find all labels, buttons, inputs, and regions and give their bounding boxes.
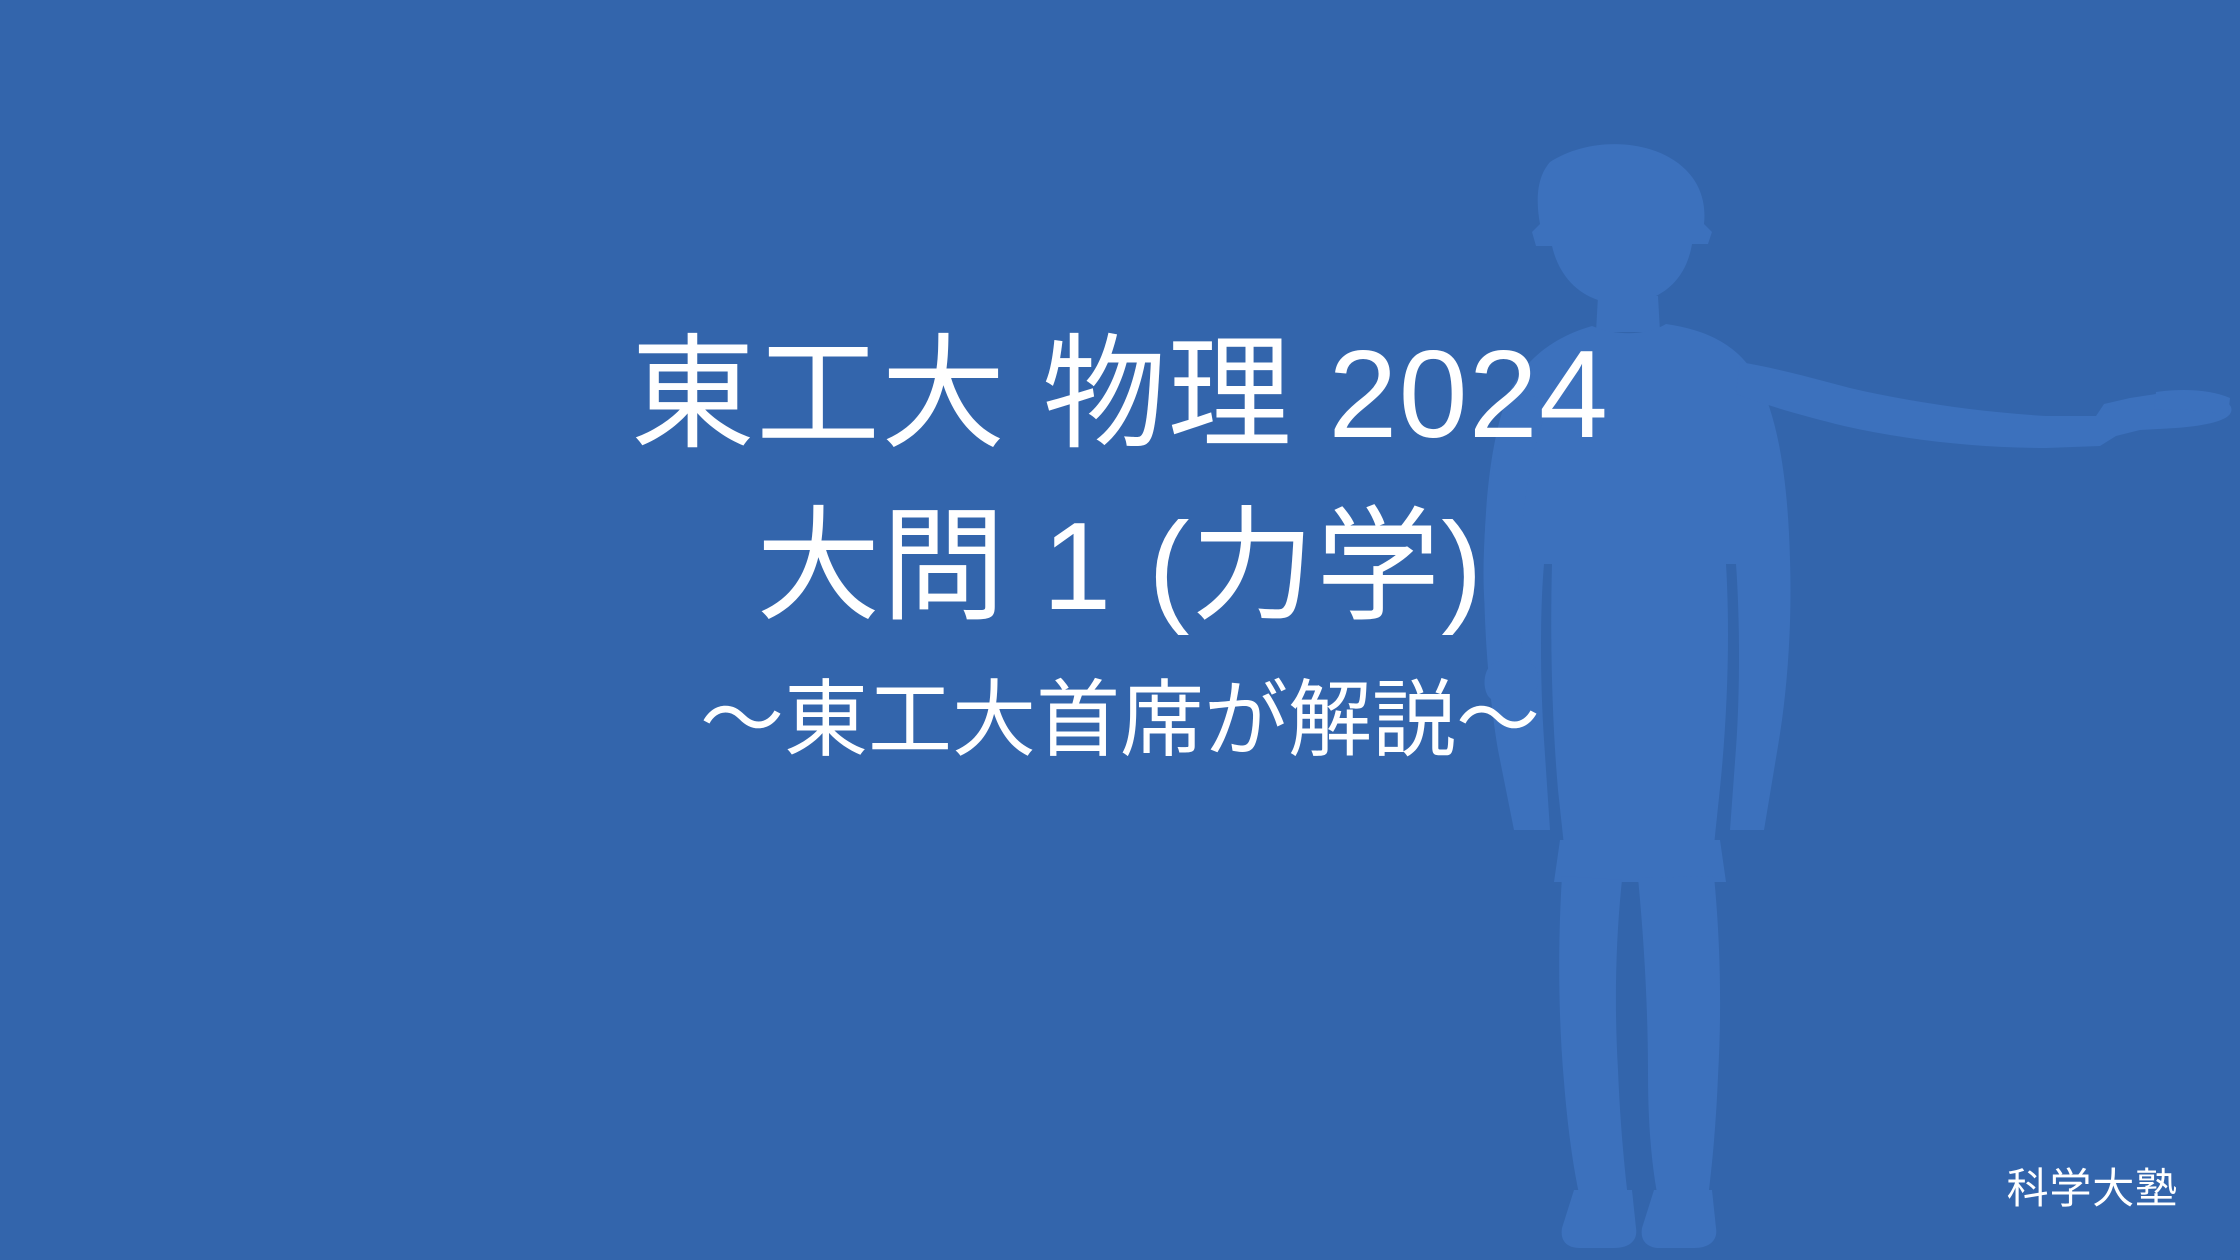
- subtitle: 〜東工大首席が解説〜: [700, 671, 1540, 770]
- brand-watermark: 科学大塾: [2007, 1166, 2178, 1212]
- title-slide: 東工大 物理 2024 大問 1 (力学) 〜東工大首席が解説〜 科学大塾: [0, 0, 2240, 1260]
- title-line-primary: 東工大 物理 2024: [631, 322, 1609, 468]
- title-line-secondary: 大問 1 (力学): [756, 494, 1484, 640]
- title-text-block: 東工大 物理 2024 大問 1 (力学) 〜東工大首席が解説〜: [0, 0, 2240, 1260]
